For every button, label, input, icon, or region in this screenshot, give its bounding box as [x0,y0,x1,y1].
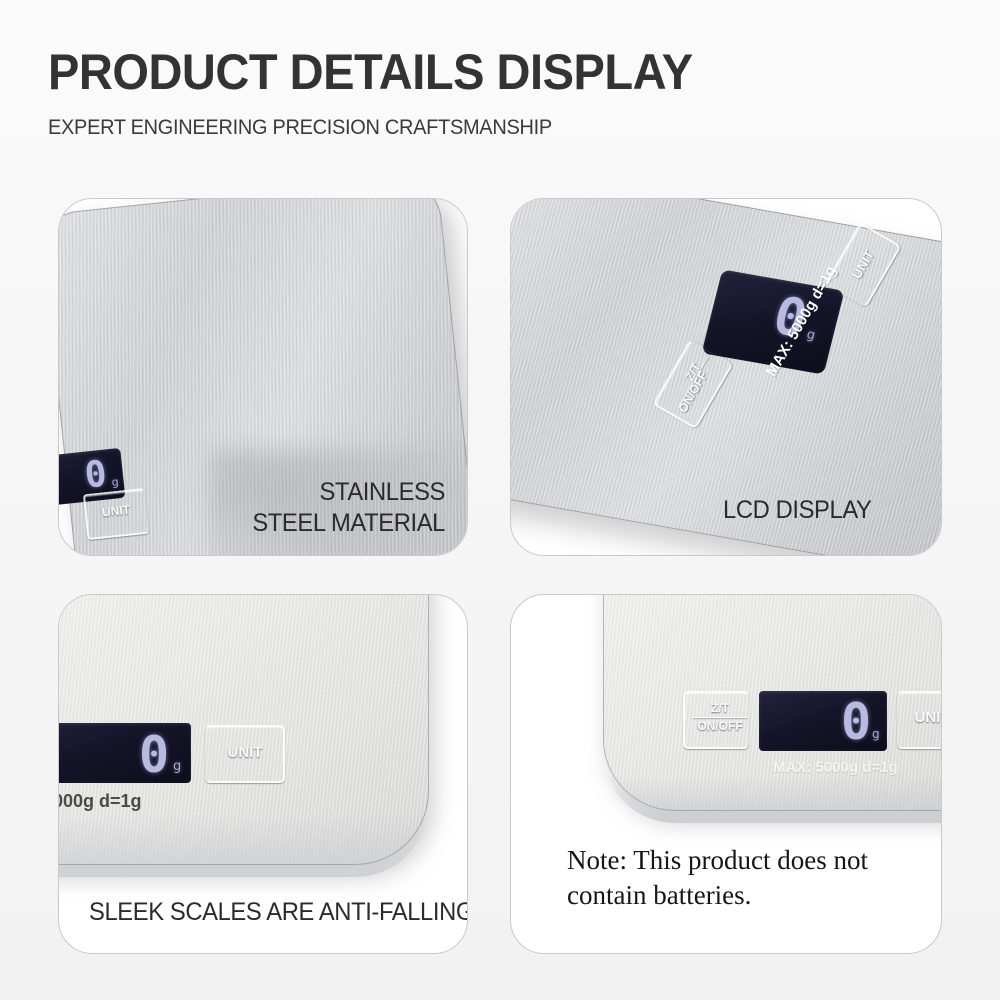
unit-button-label: UNIT [897,709,941,726]
card-sleek-scales-anti-falling[interactable]: 0 g AX: 5000g d=1g UNIT SLEEK SCALES ARE… [58,594,468,954]
lcd-screen: 0 g [759,691,887,751]
zero-tare-button-label-bottom: ON/OFF [687,719,753,733]
lcd-spec-label: AX: 5000g d=1g [59,791,142,812]
lcd-unit-label: g [805,327,817,343]
page-title: PRODUCT DETAILS DISPLAY [48,44,894,100]
lcd-spec-label: MAX: 5000g d=1g [773,759,898,776]
page-subtitle: EXPERT ENGINEERING PRECISION CRAFTSMANSH… [48,116,903,140]
page-header: PRODUCT DETAILS DISPLAY EXPERT ENGINEERI… [48,44,948,140]
lcd-unit-label: g [173,759,181,774]
card-caption-line-1: LCD DISPLAY [723,495,941,526]
card-image-sleek: 0 g AX: 5000g d=1g UNIT SLEEK SCALES ARE… [59,595,467,953]
card-caption-line-1: SLEEK SCALES ARE ANTI-FALLING [89,897,441,928]
battery-note-line-1: Note: This product does not [567,843,868,878]
card-image-battery-note: Z/T ON/OFF 0 g MAX: 5000g d=1g UNIT Note… [511,595,941,953]
card-lcd-display[interactable]: 0 g MAX: 5000g d=1g Z/T ON/OFF UNIT LCD … [510,198,942,556]
product-details-page: PRODUCT DETAILS DISPLAY EXPERT ENGINEERI… [0,0,1000,1000]
battery-note-line-2: contain batteries. [567,878,751,913]
lcd-screen: 0 g [59,723,191,783]
card-stainless-steel-material[interactable]: 0 g UNIT STAINLESS STEEL MATERIAL [58,198,468,556]
card-caption-line-1: STAINLESS [160,477,445,508]
lcd-digit: 0 [83,453,110,496]
zero-tare-button-label-top: Z/T [687,701,753,715]
lcd-digit: 0 [139,726,170,784]
zero-tare-button-divider [693,717,747,718]
lcd-unit-label: g [111,475,119,489]
lcd-unit-label: g [872,727,880,741]
card-image-lcd: 0 g MAX: 5000g d=1g Z/T ON/OFF UNIT LCD … [511,199,941,555]
card-caption-line-2: STEEL MATERIAL [160,508,445,539]
unit-button-label: UNIT [205,744,285,761]
card-image-stainless: 0 g UNIT STAINLESS STEEL MATERIAL [59,199,467,555]
feature-cards-grid: 0 g UNIT STAINLESS STEEL MATERIAL 0 [58,198,942,958]
card-battery-note[interactable]: Z/T ON/OFF 0 g MAX: 5000g d=1g UNIT Note… [510,594,942,954]
lcd-digit: 0 [841,693,872,751]
